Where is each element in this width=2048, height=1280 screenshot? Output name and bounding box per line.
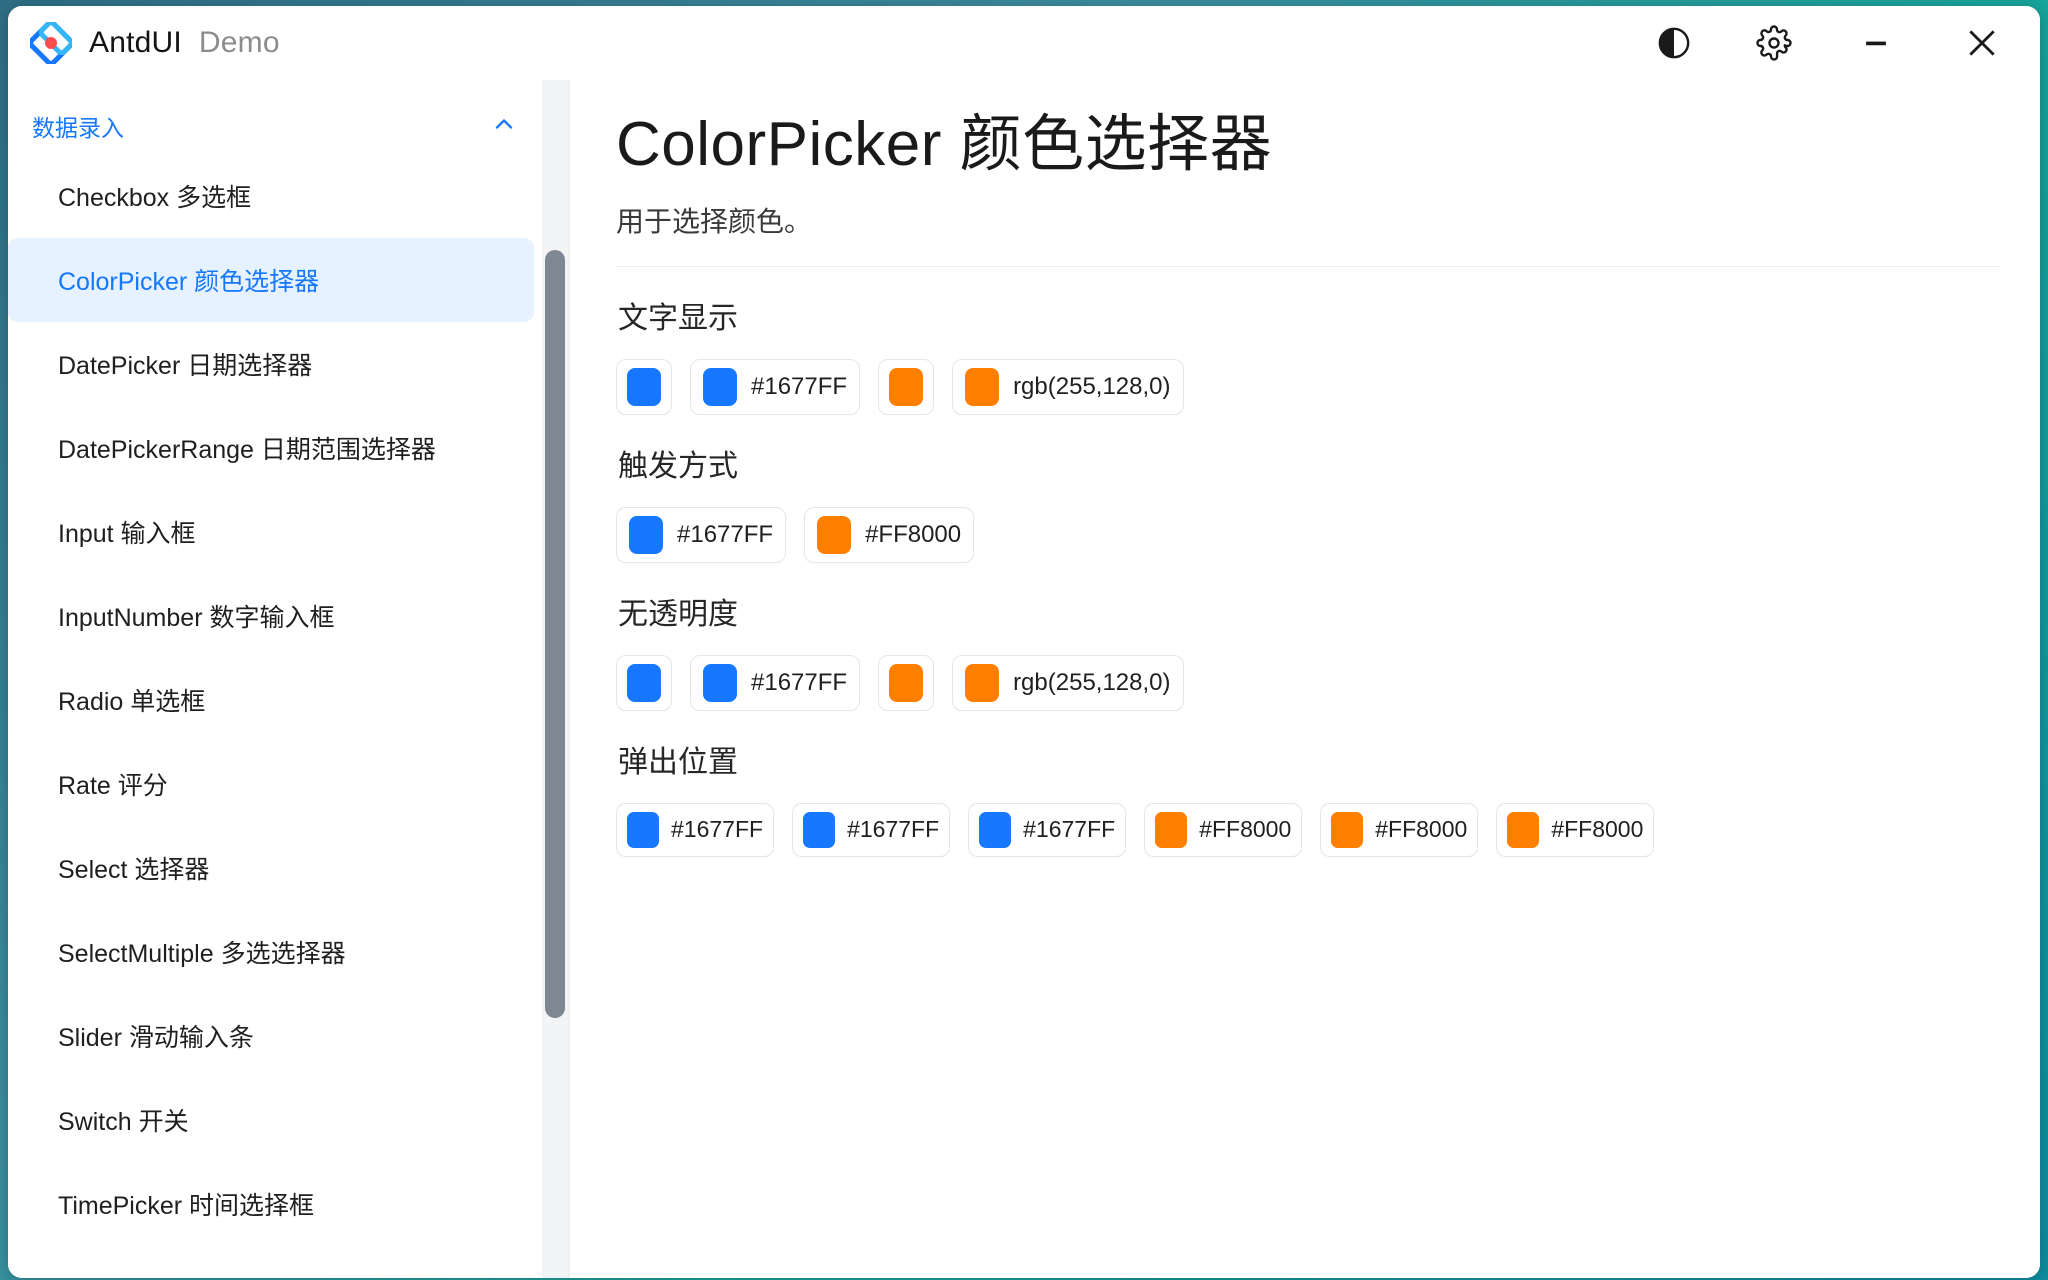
- colorpicker-placement-5[interactable]: #FF8000: [1320, 803, 1478, 857]
- color-swatch: [889, 368, 923, 406]
- sidebar-content-divider: [568, 80, 570, 1278]
- colorpicker-placement-3[interactable]: #1677FF: [968, 803, 1126, 857]
- sidebar-item-label: Input 输入框: [58, 514, 196, 550]
- colorpicker-value: #1677FF: [677, 521, 773, 549]
- page-description: 用于选择颜色。: [616, 200, 2000, 240]
- colorpicker-with-rgb[interactable]: rgb(255,128,0): [952, 359, 1183, 415]
- section-title-trigger-mode: 触发方式: [618, 441, 2000, 485]
- page-title: ColorPicker 颜色选择器: [616, 106, 2000, 184]
- color-swatch: [1507, 812, 1539, 848]
- content-panel: ColorPicker 颜色选择器 用于选择颜色。 文字显示 #1677FF: [568, 80, 2040, 1278]
- color-swatch: [703, 664, 737, 702]
- sidebar-item-label: DatePickerRange 日期范围选择器: [58, 430, 436, 466]
- title-bar: AntdUI Demo: [8, 6, 2040, 80]
- colorpicker-placement-2[interactable]: #1677FF: [792, 803, 950, 857]
- colorpicker-swatch-only[interactable]: [616, 359, 672, 415]
- section-row-popup-placement: #1677FF #1677FF #1677FF #FF8000 #FF8000: [616, 803, 2000, 857]
- sidebar-item-checkbox[interactable]: Checkbox 多选框: [8, 154, 534, 238]
- colorpicker-value: #FF8000: [1551, 816, 1643, 843]
- sidebar-item-label: Slider 滑动输入条: [58, 1018, 254, 1054]
- app-window: AntdUI Demo: [8, 6, 2040, 1278]
- colorpicker-value: #1677FF: [751, 669, 847, 697]
- colorpicker-value: #FF8000: [865, 521, 961, 549]
- sidebar-item-label: Select 选择器: [58, 850, 209, 886]
- minimize-button[interactable]: [1838, 6, 1914, 80]
- color-swatch: [1331, 812, 1363, 848]
- sidebar-item-inputnumber[interactable]: InputNumber 数字输入框: [8, 574, 534, 658]
- colorpicker-value: #1677FF: [671, 816, 763, 843]
- colorpicker-with-hex[interactable]: #1677FF: [690, 359, 860, 415]
- sidebar-item-label: Radio 单选框: [58, 682, 205, 718]
- sidebar-item-colorpicker[interactable]: ColorPicker 颜色选择器: [8, 238, 534, 322]
- sidebar-item-radio[interactable]: Radio 单选框: [8, 658, 534, 742]
- color-swatch: [627, 368, 661, 406]
- sidebar-item-input[interactable]: Input 输入框: [8, 490, 534, 574]
- sidebar-item-label: Switch 开关: [58, 1102, 189, 1138]
- colorpicker-placement-6[interactable]: #FF8000: [1496, 803, 1654, 857]
- sidebar-item-label: InputNumber 数字输入框: [58, 598, 334, 634]
- color-swatch: [979, 812, 1011, 848]
- colorpicker-value: #FF8000: [1375, 816, 1467, 843]
- app-body: 数据录入 Checkbox 多选框 ColorPicker 颜色选择器 Date…: [8, 80, 2040, 1278]
- sidebar-item-slider[interactable]: Slider 滑动输入条: [8, 994, 534, 1078]
- color-swatch: [627, 664, 661, 702]
- sidebar-item-select[interactable]: Select 选择器: [8, 826, 534, 910]
- colorpicker-value: #FF8000: [1199, 816, 1291, 843]
- sidebar-item-label: SelectMultiple 多选选择器: [58, 934, 346, 970]
- section-title-popup-placement: 弹出位置: [618, 737, 2000, 781]
- section-title-text-display: 文字显示: [618, 293, 2000, 337]
- sidebar-item-selectmultiple[interactable]: SelectMultiple 多选选择器: [8, 910, 534, 994]
- sidebar-group-label: 数据录入: [32, 109, 124, 143]
- colorpicker-swatch-only[interactable]: [878, 359, 934, 415]
- color-swatch: [965, 664, 999, 702]
- colorpicker-value: #1677FF: [1023, 816, 1115, 843]
- section-row-text-display: #1677FF rgb(255,128,0): [616, 359, 2000, 415]
- antdui-logo-icon: [30, 22, 72, 64]
- sidebar-group-data-entry[interactable]: 数据录入: [8, 98, 542, 154]
- app-subtitle: Demo: [199, 26, 280, 60]
- sidebar-item-label: TimePicker 时间选择框: [58, 1186, 314, 1222]
- sidebar-item-label: ColorPicker 颜色选择器: [58, 262, 319, 298]
- colorpicker-with-hex[interactable]: #1677FF: [616, 507, 786, 563]
- colorpicker-swatch-only[interactable]: [878, 655, 934, 711]
- sidebar-item-label: Rate 评分: [58, 766, 168, 802]
- colorpicker-with-hex[interactable]: #FF8000: [804, 507, 974, 563]
- chevron-up-icon: [490, 110, 518, 143]
- close-button[interactable]: [1944, 6, 2020, 80]
- sidebar-item-datepicker[interactable]: DatePicker 日期选择器: [8, 322, 534, 406]
- sidebar-scroll-area: 数据录入 Checkbox 多选框 ColorPicker 颜色选择器 Date…: [8, 80, 542, 1278]
- color-swatch: [817, 516, 851, 554]
- sidebar-item-datepickerrange[interactable]: DatePickerRange 日期范围选择器: [8, 406, 534, 490]
- header-divider: [616, 266, 2000, 267]
- colorpicker-placement-4[interactable]: #FF8000: [1144, 803, 1302, 857]
- color-swatch: [803, 812, 835, 848]
- theme-toggle-button[interactable]: [1636, 6, 1712, 80]
- colorpicker-with-hex[interactable]: #1677FF: [690, 655, 860, 711]
- sidebar: 数据录入 Checkbox 多选框 ColorPicker 颜色选择器 Date…: [8, 80, 568, 1278]
- color-swatch: [1155, 812, 1187, 848]
- sidebar-item-label: Checkbox 多选框: [58, 178, 251, 214]
- color-swatch: [965, 368, 999, 406]
- colorpicker-placement-1[interactable]: #1677FF: [616, 803, 774, 857]
- sidebar-item-switch[interactable]: Switch 开关: [8, 1078, 534, 1162]
- settings-button[interactable]: [1736, 6, 1812, 80]
- color-swatch: [703, 368, 737, 406]
- colorpicker-value: rgb(255,128,0): [1013, 669, 1170, 697]
- colorpicker-with-rgb[interactable]: rgb(255,128,0): [952, 655, 1183, 711]
- section-row-no-alpha: #1677FF rgb(255,128,0): [616, 655, 2000, 711]
- color-swatch: [889, 664, 923, 702]
- color-swatch: [629, 516, 663, 554]
- app-brand: AntdUI Demo: [30, 22, 280, 64]
- colorpicker-value: rgb(255,128,0): [1013, 373, 1170, 401]
- colorpicker-swatch-only[interactable]: [616, 655, 672, 711]
- sidebar-item-rate[interactable]: Rate 评分: [8, 742, 534, 826]
- section-title-no-alpha: 无透明度: [618, 589, 2000, 633]
- color-swatch: [627, 812, 659, 848]
- sidebar-item-timepicker[interactable]: TimePicker 时间选择框: [8, 1162, 534, 1246]
- sidebar-scrollbar-thumb[interactable]: [545, 250, 565, 1018]
- colorpicker-value: #1677FF: [751, 373, 847, 401]
- section-row-trigger-mode: #1677FF #FF8000: [616, 507, 2000, 563]
- sidebar-item-label: DatePicker 日期选择器: [58, 346, 312, 382]
- app-title: AntdUI: [89, 26, 182, 60]
- window-controls: [1636, 6, 2040, 80]
- colorpicker-value: #1677FF: [847, 816, 939, 843]
